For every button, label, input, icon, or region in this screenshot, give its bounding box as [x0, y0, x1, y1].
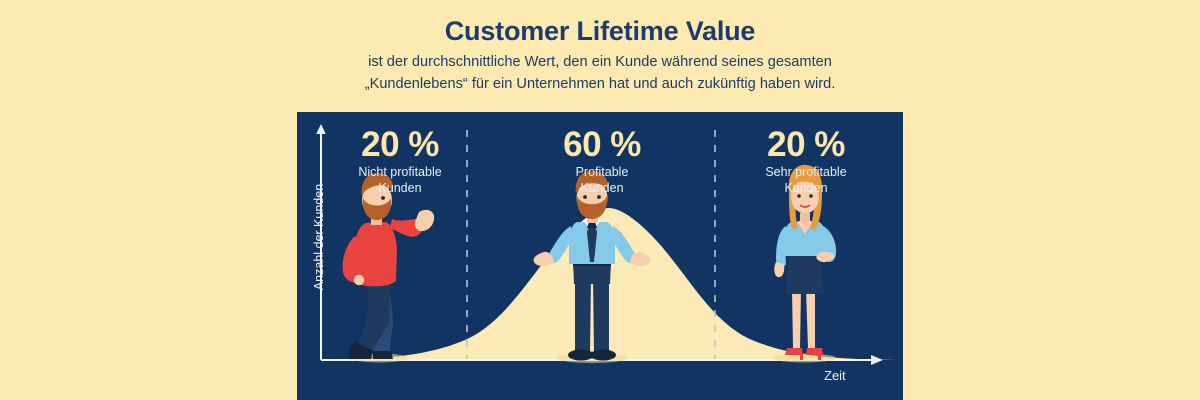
segment-line-1: Profitable — [527, 164, 677, 180]
x-axis-arrow-icon — [871, 355, 883, 365]
header: Customer Lifetime Value ist der durchsch… — [297, 0, 903, 112]
page-title: Customer Lifetime Value — [297, 14, 903, 48]
segment-percent: 20 % — [325, 125, 475, 164]
segment-line-1: Nicht profitable — [325, 164, 475, 180]
segment-line-1: Sehr profitable — [731, 164, 881, 180]
x-axis-label: Zeit — [824, 368, 846, 383]
chart-panel: Anzahl der Kunden Zeit 20 % Nicht profit… — [297, 112, 903, 400]
page-subtitle: ist der durchschnittliche Wert, den ein … — [297, 48, 903, 95]
segment-line-2: Kunden — [731, 180, 881, 196]
segment-percent: 20 % — [731, 125, 881, 164]
segment-label-very-profitable: 20 % Sehr profitable Kunden — [731, 125, 881, 196]
figure-man-red-sweater — [343, 173, 435, 363]
y-axis-label: Anzahl der Kunden — [312, 157, 326, 317]
segment-label-not-profitable: 20 % Nicht profitable Kunden — [325, 125, 475, 196]
segment-percent: 60 % — [527, 125, 677, 164]
segment-line-2: Kunden — [527, 180, 677, 196]
infographic-page: Customer Lifetime Value ist der durchsch… — [0, 0, 1200, 400]
segment-line-2: Kunden — [325, 180, 475, 196]
segment-label-profitable: 60 % Profitable Kunden — [527, 125, 677, 196]
